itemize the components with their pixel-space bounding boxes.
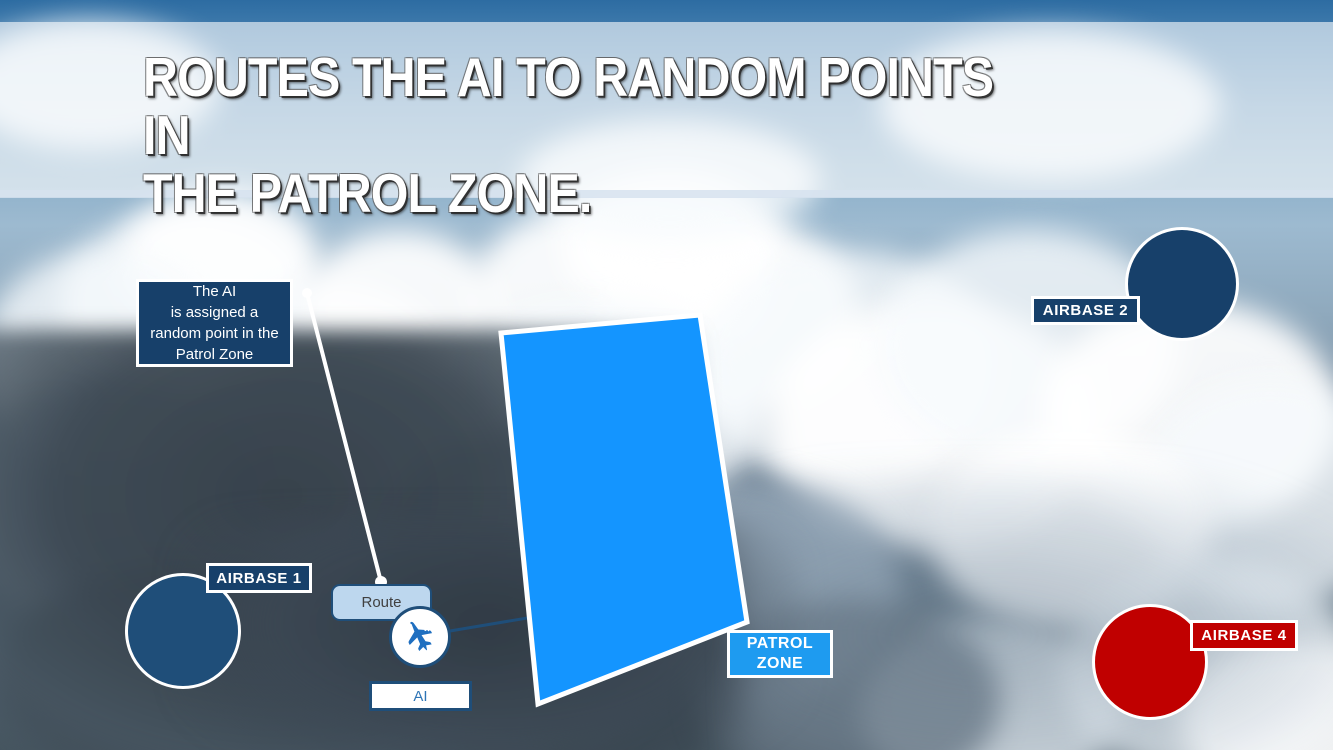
ai-label-text: AI bbox=[413, 688, 427, 705]
airbase-1-label-text: AIRBASE 1 bbox=[216, 570, 301, 587]
airbase-2-label-text: AIRBASE 2 bbox=[1043, 302, 1128, 319]
airbase-2-circle[interactable] bbox=[1125, 227, 1239, 341]
slide-canvas: ROUTES THE AI TO RANDOM POINTS IN THE PA… bbox=[0, 0, 1333, 750]
airbase-4-label-text: AIRBASE 4 bbox=[1201, 627, 1286, 644]
airbase-4-label[interactable]: AIRBASE 4 bbox=[1190, 620, 1298, 651]
fighter-jet-icon bbox=[400, 617, 440, 657]
patrol-zone-label-text: PATROL ZONE bbox=[747, 634, 813, 674]
airbase-2-label[interactable]: AIRBASE 2 bbox=[1031, 296, 1140, 325]
shapes-layer: AIRBASE 2 AIRBASE 4 AIRBASE 1 The AI is … bbox=[0, 0, 1333, 750]
ai-label[interactable]: AI bbox=[369, 681, 472, 711]
route-label: Route bbox=[361, 594, 401, 611]
ai-jet-marker[interactable] bbox=[389, 606, 451, 668]
patrol-zone-label[interactable]: PATROL ZONE bbox=[727, 630, 833, 678]
callout-box[interactable]: The AI is assigned a random point in the… bbox=[136, 279, 293, 367]
airbase-1-label[interactable]: AIRBASE 1 bbox=[206, 563, 312, 593]
callout-text: The AI is assigned a random point in the… bbox=[150, 281, 278, 365]
